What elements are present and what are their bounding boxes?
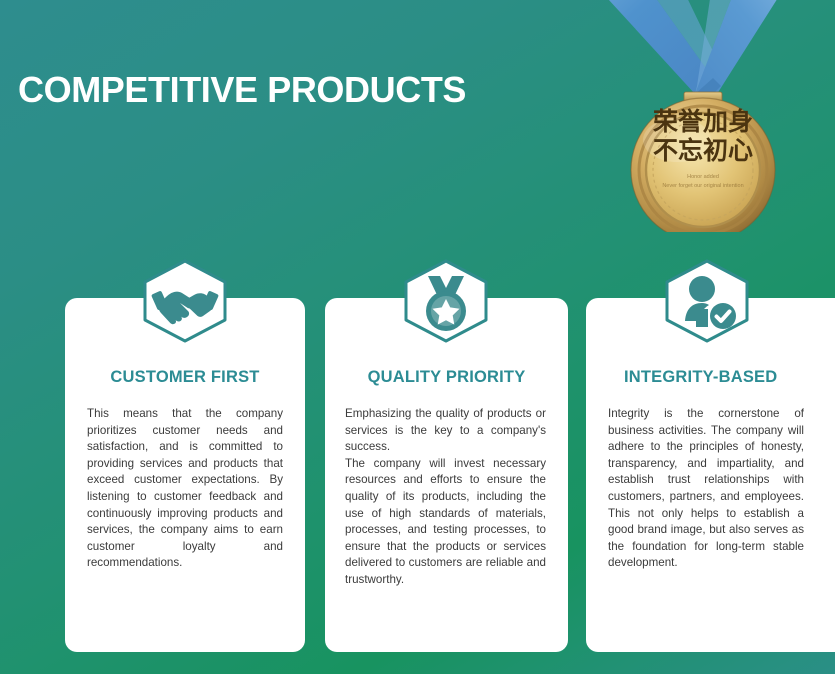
verified-person-icon [661, 259, 753, 343]
card-body-text: Emphasizing the quality of products or s… [345, 406, 546, 589]
card-heading: CUSTOMER FIRST [65, 368, 305, 387]
page-title: COMPETITIVE PRODUCTS [18, 69, 466, 111]
gold-medal-with-blue-ribbon-icon: 荣誉加身 不忘初心 Honor added Never forget our o… [545, 0, 835, 232]
svg-text:不忘初心: 不忘初心 [653, 136, 753, 165]
feature-card-quality-priority[interactable]: QUALITY PRIORITY Emphasizing the quality… [325, 298, 568, 652]
card-heading: QUALITY PRIORITY [325, 368, 568, 387]
svg-text:Honor added: Honor added [687, 174, 719, 180]
svg-text:Never forget our original inte: Never forget our original intention [662, 183, 743, 189]
feature-card-integrity-based[interactable]: INTEGRITY-BASED Integrity is the corners… [586, 298, 835, 652]
feature-card-customer-first[interactable]: CUSTOMER FIRST This means that the compa… [65, 298, 305, 652]
award-medal-star-icon [400, 259, 492, 343]
handshake-icon [139, 259, 231, 343]
medal-line1: 荣誉加身 [653, 107, 753, 136]
card-body-text: Integrity is the cornerstone of business… [608, 406, 804, 572]
slide-canvas: COMPETITIVE PRODUCTS [0, 0, 835, 674]
card-body-text: This means that the company prioritizes … [87, 406, 283, 572]
card-heading: INTEGRITY-BASED [586, 368, 835, 387]
